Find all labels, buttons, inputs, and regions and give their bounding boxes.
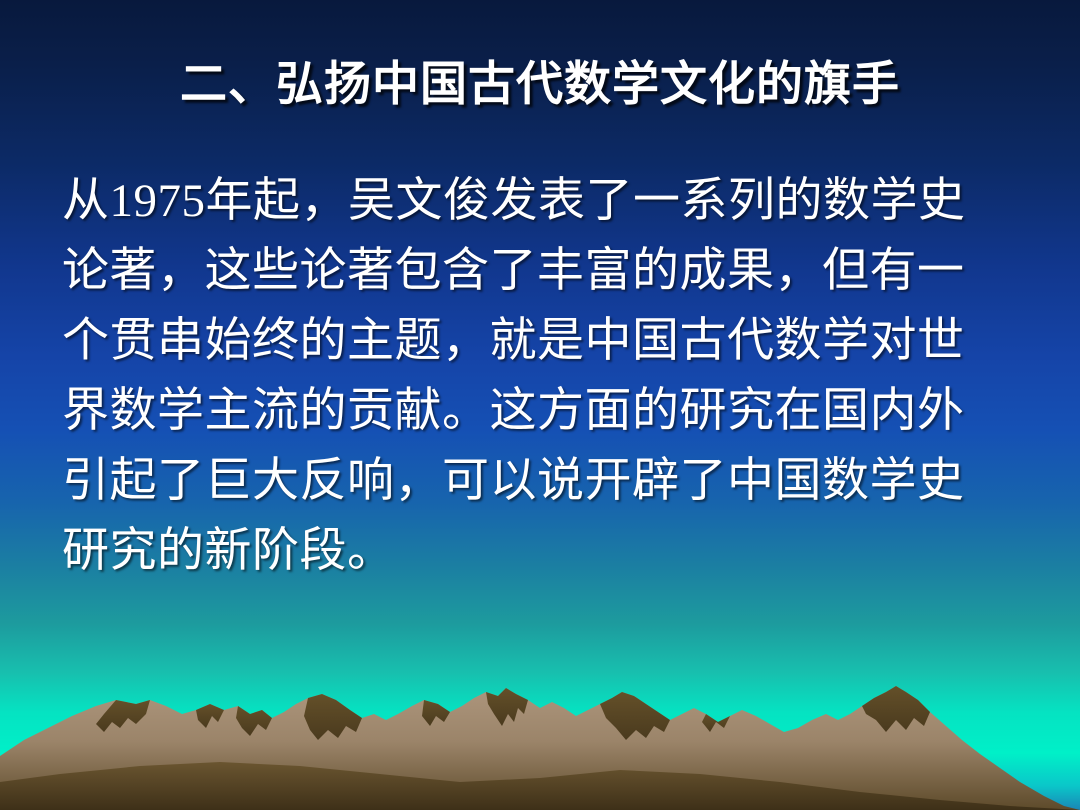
body-line: 个贯串始终的主题，就是中国古代数学对世 (62, 306, 1022, 376)
brown-mountain-range-silhouette (0, 670, 1080, 810)
body-line: 从1975年起，吴文俊发表了一系列的数学史 (62, 166, 1022, 236)
body-line: 论著，这些论著包含了丰富的成果，但有一 (62, 236, 1022, 306)
presentation-slide: 二、弘扬中国古代数学文化的旗手 从1975年起，吴文俊发表了一系列的数学史 论著… (0, 0, 1080, 810)
body-line: 界数学主流的贡献。这方面的研究在国内外 (62, 376, 1022, 446)
slide-title: 二、弘扬中国古代数学文化的旗手 (0, 58, 1080, 113)
body-line: 引起了巨大反响，可以说开辟了中国数学史 (62, 446, 1022, 516)
body-line: 研究的新阶段。 (62, 516, 1022, 586)
slide-body-text: 从1975年起，吴文俊发表了一系列的数学史 论著，这些论著包含了丰富的成果，但有… (62, 166, 1022, 586)
